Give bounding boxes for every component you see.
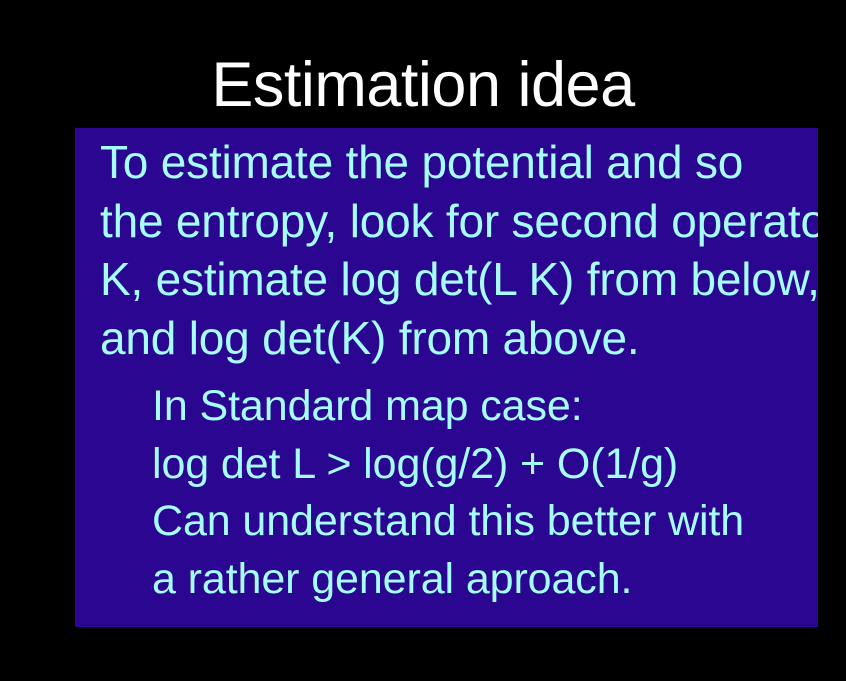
presentation-slide: Estimation idea To estimate the potentia… <box>0 0 846 681</box>
sub-line: Can understand this better with <box>152 493 818 551</box>
body-line: the entropy, look for second operator <box>100 192 818 251</box>
body-line: K, estimate log det(L K) from below, <box>100 250 818 309</box>
sub-line: a rather general aproach. <box>152 551 818 609</box>
sub-line: In Standard map case: <box>152 378 818 436</box>
body-line: To estimate the potential and so <box>100 133 818 192</box>
content-box: To estimate the potential and so the ent… <box>75 128 818 627</box>
sub-paragraph: In Standard map case: log det L > log(g/… <box>152 378 818 608</box>
sub-line: log det L > log(g/2) + O(1/g) <box>152 436 818 494</box>
page-title: Estimation idea <box>0 52 846 118</box>
body-line: and log det(K) from above. <box>100 309 818 368</box>
body-paragraph: To estimate the potential and so the ent… <box>100 133 818 367</box>
